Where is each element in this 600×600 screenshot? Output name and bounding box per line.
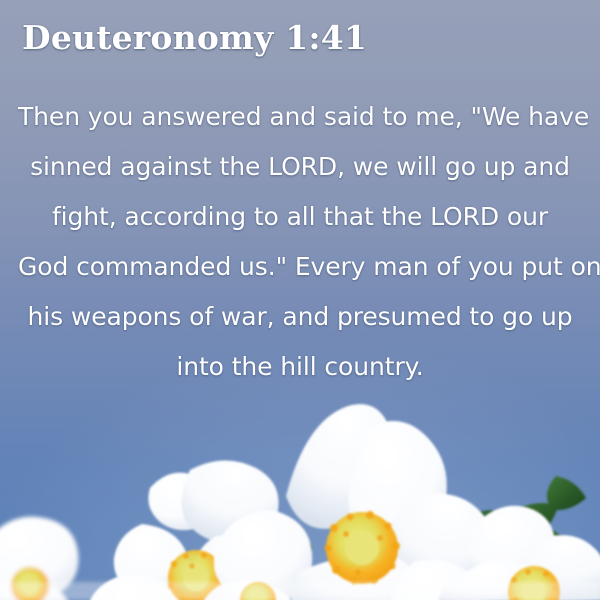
flower-bouquet-image: [0, 400, 600, 600]
bible-verse-card: Deuteronomy 1:41 Then you answered and s…: [0, 0, 600, 600]
verse-line: into the hill country.: [18, 342, 582, 392]
verse-line: sinned against the LORD, we will go up a…: [18, 142, 582, 192]
verse-line: his weapons of war, and presumed to go u…: [18, 292, 582, 342]
verse-text-block: Then you answered and said to me, "We ha…: [0, 92, 600, 392]
verse-reference-title: Deuteronomy 1:41: [22, 18, 367, 57]
verse-line: fight, according to all that the LORD ou…: [18, 192, 582, 242]
verse-line: Then you answered and said to me, "We ha…: [18, 92, 582, 142]
verse-line: God commanded us." Every man of you put …: [18, 242, 582, 292]
